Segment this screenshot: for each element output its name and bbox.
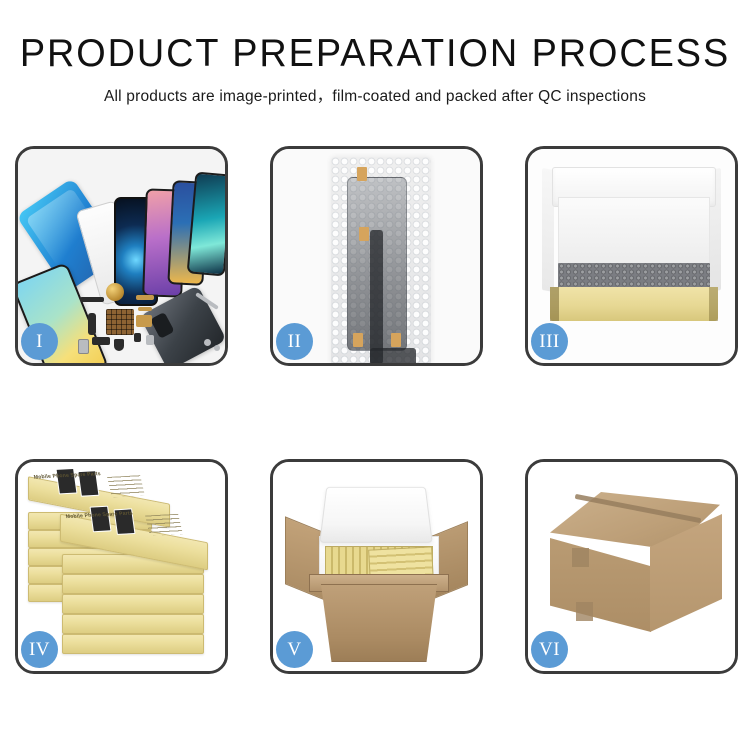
spare-part: [136, 295, 154, 300]
tape-piece: [391, 333, 401, 347]
process-step-grid: I II: [15, 146, 737, 674]
chip-component-part: [106, 309, 134, 335]
page-title: PRODUCT PREPARATION PROCESS: [11, 34, 739, 75]
spare-part: [92, 337, 110, 345]
step-badge-5: V: [276, 631, 313, 668]
bubble-wrap-bag: [331, 157, 431, 363]
spare-part: [146, 335, 154, 345]
spare-part: [88, 313, 96, 335]
yellow-box-front: [550, 287, 718, 321]
carton-body: [313, 584, 445, 662]
spare-part: [214, 345, 220, 351]
foam-box-lid: [319, 487, 433, 543]
spare-part: [136, 315, 152, 327]
wrapped-screen: [347, 177, 407, 351]
stacked-box: [62, 594, 204, 614]
process-step-6[interactable]: VI: [525, 459, 738, 674]
carton-tape-lower: [576, 602, 593, 621]
box-stack: Mobile Phone Spare Parts Mobile Phone Sp…: [28, 484, 225, 662]
carton-left-face: [550, 538, 651, 632]
box-print-image: [90, 506, 112, 533]
stacked-box: [62, 634, 204, 654]
step-badge-3: III: [531, 323, 568, 360]
box-print-textblock: [107, 475, 145, 497]
vibration-motor-part: [106, 283, 124, 301]
grey-foam-padding: [558, 263, 710, 289]
tape-piece: [359, 227, 369, 241]
process-step-5[interactable]: V: [270, 459, 483, 674]
process-step-1[interactable]: I: [15, 146, 228, 366]
tape-piece: [357, 167, 367, 181]
spare-part: [204, 339, 211, 346]
foam-sheet: [558, 197, 710, 265]
product-preparation-process-infographic: PRODUCT PREPARATION PROCESS All products…: [0, 0, 750, 750]
tape-piece: [353, 333, 363, 347]
step-badge-2: II: [276, 323, 313, 360]
carton-tape-upper: [572, 548, 589, 567]
page-subtitle: All products are image-printed，film-coat…: [0, 84, 750, 106]
step-badge-6: VI: [531, 631, 568, 668]
process-step-3[interactable]: III: [525, 146, 738, 366]
process-step-2[interactable]: II: [270, 146, 483, 366]
header: PRODUCT PREPARATION PROCESS All products…: [0, 34, 750, 106]
box-print-textblock: [145, 514, 183, 536]
step-badge-4: IV: [21, 631, 58, 668]
spare-part: [114, 339, 124, 351]
spare-part: [134, 333, 141, 342]
spare-part: [80, 297, 104, 302]
connector-block: [370, 348, 416, 363]
process-step-4[interactable]: Mobile Phone Spare Parts Mobile Phone Sp…: [15, 459, 228, 674]
spare-part: [138, 307, 152, 311]
stacked-box: [62, 574, 204, 594]
stacked-box: [62, 614, 204, 634]
spare-part: [78, 339, 89, 354]
step-badge-1: I: [21, 323, 58, 360]
flex-cable: [370, 230, 383, 363]
